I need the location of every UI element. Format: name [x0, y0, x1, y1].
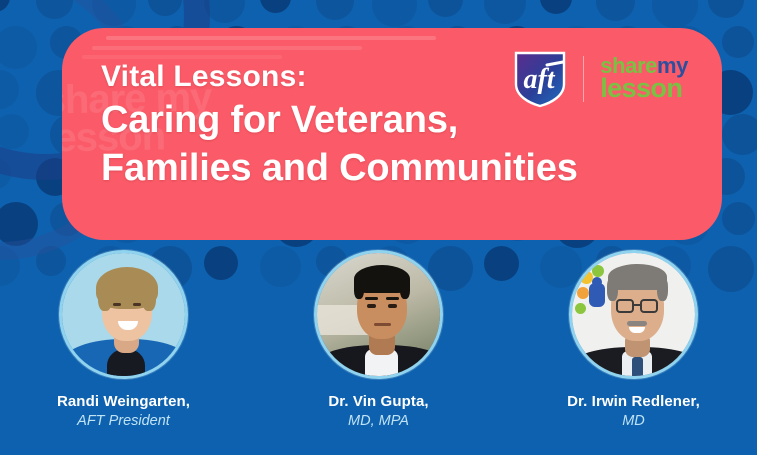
speaker-name: Dr. Irwin Redlener, [538, 393, 730, 410]
title-banner: share my lesson Vital Lessons: Caring fo… [62, 28, 722, 240]
speaker-name: Dr. Vin Gupta, [283, 393, 475, 410]
background-dot [722, 202, 755, 235]
background-dot [204, 0, 245, 23]
logo-group: aft sharemy lesson [513, 50, 688, 108]
background-dot [484, 0, 526, 24]
speaker-name: Randi Weingarten, [28, 393, 220, 410]
headshot-irwin-redlener [569, 250, 698, 379]
speaker-irwin-redlener: Dr. Irwin Redlener, MD [538, 250, 730, 429]
speaker-randi-weingarten: Randi Weingarten, AFT President [28, 250, 220, 429]
speaker-vin-gupta: Dr. Vin Gupta, MD, MPA [283, 250, 475, 429]
headshot-randi-weingarten [59, 250, 188, 379]
speaker-list: Randi Weingarten, AFT President [0, 250, 757, 429]
promo-graphic: share my lesson Vital Lessons: Caring fo… [0, 0, 757, 455]
banner-deco-line-1 [106, 36, 436, 40]
title-line-1: Vital Lessons: [101, 58, 578, 96]
aft-shield-icon: aft [513, 50, 567, 108]
background-dot [260, 0, 291, 13]
speaker-role: MD [538, 413, 730, 429]
sml-word-lesson: lesson [600, 73, 682, 103]
background-dot [428, 0, 463, 17]
logo-divider [583, 56, 584, 102]
background-dot [596, 0, 635, 21]
banner-deco-line-2 [92, 46, 362, 50]
background-dot [372, 0, 417, 27]
speaker-role: MD, MPA [283, 413, 475, 429]
background-dot [652, 0, 698, 28]
svg-text:aft: aft [524, 64, 556, 95]
speaker-role: AFT President [28, 413, 220, 429]
background-dot [708, 0, 744, 18]
background-dot [316, 0, 354, 20]
headshot-vin-gupta [314, 250, 443, 379]
background-dot [722, 26, 754, 58]
background-dot [722, 114, 757, 155]
share-my-lesson-wordmark: sharemy lesson [600, 55, 688, 104]
background-dot [540, 0, 572, 14]
title-block: Vital Lessons: Caring for Veterans, Fami… [101, 58, 578, 192]
title-line-3: Families and Communities [101, 144, 578, 192]
title-line-2: Caring for Veterans, [101, 96, 578, 144]
